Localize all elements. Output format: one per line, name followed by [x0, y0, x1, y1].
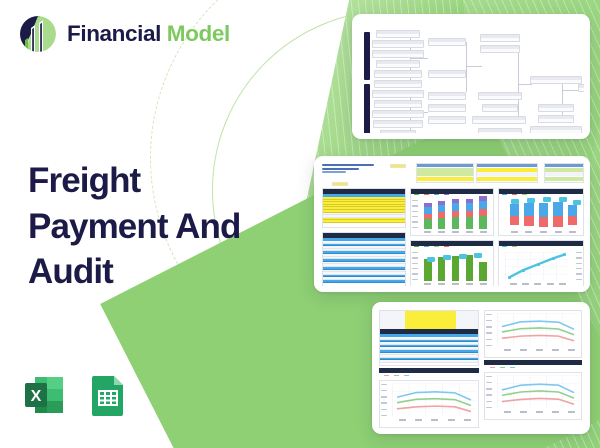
x-axis-labels [507, 231, 580, 233]
data-label-bubble [511, 199, 519, 204]
gross-margin-line-paths [497, 313, 579, 347]
data-point [537, 263, 540, 266]
legend-item [510, 367, 515, 368]
gross-margin-chart-panel[interactable] [484, 310, 582, 358]
bar-2026 [568, 205, 577, 225]
flow-node[interactable] [372, 50, 424, 58]
summary-panel[interactable] [544, 163, 584, 183]
legend-item [394, 375, 399, 376]
flow-node[interactable] [530, 76, 582, 84]
cash-impacts-table[interactable] [322, 188, 406, 228]
legend-item [434, 194, 439, 195]
flow-node[interactable] [374, 100, 422, 108]
payback-line-path [505, 252, 569, 281]
google-sheets-icon[interactable] [85, 372, 131, 418]
brand-name-part1: Financial [67, 21, 161, 46]
y-axis-labels [381, 384, 387, 416]
data-label-bubble [573, 200, 581, 205]
data-label-bubble [527, 198, 535, 203]
bar-2025 [466, 199, 474, 229]
flow-node[interactable] [472, 116, 526, 124]
flow-node[interactable] [478, 128, 522, 133]
legend-item [384, 375, 389, 376]
flow-node[interactable] [376, 60, 420, 68]
financial-model-circle-chart-logo-icon [18, 14, 58, 54]
flow-node[interactable] [428, 92, 466, 100]
page-title-line3: Audit [28, 249, 298, 295]
legend-item [444, 246, 449, 247]
flow-node[interactable] [538, 115, 574, 123]
y-axis-labels [412, 200, 418, 228]
flow-node[interactable] [428, 116, 466, 124]
data-label-bubble [559, 197, 567, 202]
y-axis-labels [412, 252, 418, 280]
flow-connector [518, 84, 532, 85]
chart-legend [502, 194, 527, 195]
chart-legend [502, 246, 517, 247]
bar-2024 [452, 256, 460, 281]
bar-2024 [452, 199, 460, 229]
payback-line-chart [505, 252, 569, 281]
balance-sheet-rail [364, 84, 370, 133]
legend-item [500, 367, 505, 368]
financial-trends-preview-card[interactable] [372, 302, 590, 434]
flow-node[interactable] [578, 84, 584, 92]
chart-legend [414, 246, 449, 247]
flow-connector [410, 58, 428, 59]
chart-legend [384, 375, 409, 376]
ebitda-line-paths-right [497, 375, 579, 409]
flow-node[interactable] [374, 70, 422, 78]
x-axis-labels [499, 349, 579, 351]
bar-2023 [438, 201, 446, 229]
summary-panel[interactable] [416, 163, 474, 183]
legend-item [434, 246, 439, 247]
data-label-bubble [427, 257, 435, 262]
flowchart-canvas [358, 20, 584, 133]
bar-2022 [424, 203, 432, 229]
data-point [522, 269, 525, 272]
legend-item [512, 194, 517, 195]
flow-connector [562, 90, 578, 91]
legend-item [512, 246, 517, 247]
data-label-bubble [459, 254, 467, 259]
y-axis-labels [486, 314, 492, 346]
y-axis-labels [576, 252, 582, 280]
legend-item [502, 194, 507, 195]
data-point [508, 276, 511, 279]
trends-canvas [378, 308, 584, 428]
flow-node[interactable] [376, 30, 420, 38]
financial-dashboard-preview-card[interactable] [314, 156, 590, 292]
bar-2026 [479, 196, 487, 229]
x-axis-labels [499, 411, 579, 413]
data-point [552, 257, 555, 260]
dashboard-heading-block [322, 164, 382, 180]
cost-structure-table[interactable] [322, 232, 406, 286]
stacked-bars [421, 200, 490, 229]
microsoft-excel-icon[interactable]: X [21, 372, 67, 418]
trends-data-table[interactable] [379, 310, 479, 366]
bar-2026 [479, 262, 487, 281]
flow-node[interactable] [428, 104, 466, 112]
trends-dashboard [378, 308, 584, 428]
data-label-bubble [474, 253, 482, 258]
flow-node[interactable] [480, 34, 520, 42]
flow-node[interactable] [530, 126, 582, 133]
flow-node[interactable] [380, 130, 416, 133]
flowchart [358, 20, 584, 133]
flow-node[interactable] [478, 92, 522, 100]
flow-connector [562, 80, 563, 118]
flow-node[interactable] [428, 70, 466, 78]
flow-node[interactable] [482, 104, 518, 112]
cash-flow-chart-panel[interactable] [410, 240, 494, 286]
chart-legend [490, 367, 515, 368]
flow-node[interactable] [372, 110, 424, 118]
profitability-chart-panel[interactable] [498, 188, 584, 236]
legend-item [424, 194, 429, 195]
gross-margin-line-chart [497, 313, 579, 347]
flow-connector [466, 66, 482, 67]
brand-logo: Financial Model [18, 14, 230, 54]
x-axis-labels [394, 419, 476, 421]
dashboard-control-cell[interactable] [390, 164, 406, 168]
ebitda-chart-panel-left[interactable] [379, 380, 479, 428]
poster-canvas: Financial Model Freight Payment And Audi… [0, 0, 600, 448]
legend-item [444, 194, 449, 195]
dashboard-canvas [320, 162, 584, 286]
flow-node[interactable] [372, 90, 424, 98]
legend-title-bar [379, 368, 479, 373]
chart-legend [414, 194, 449, 195]
x-axis-labels [507, 283, 569, 285]
legend-item [490, 367, 495, 368]
flow-connector [466, 42, 467, 92]
page-title: Freight Payment And Audit [28, 158, 298, 295]
income-statement-rail [364, 32, 370, 80]
y-axis-labels [486, 376, 492, 408]
page-title-line2: Payment And [28, 204, 298, 250]
flow-node[interactable] [373, 120, 423, 128]
dupont-flowchart-preview-card[interactable] [352, 14, 590, 139]
legend-title-bar [484, 360, 582, 365]
ebitda-line-chart-right [497, 375, 579, 409]
flow-node[interactable] [374, 80, 422, 88]
investment-payback-chart-panel[interactable] [498, 240, 584, 286]
flow-node[interactable] [428, 38, 466, 46]
brand-wordmark: Financial Model [67, 21, 230, 47]
dashboard [320, 162, 584, 286]
flow-node[interactable] [372, 40, 424, 48]
legend-item [414, 194, 419, 195]
revenue-streams-chart-panel[interactable] [410, 188, 494, 236]
brand-name-part2: Model [167, 21, 230, 46]
bar-2022 [424, 259, 432, 281]
bar-2025 [553, 202, 562, 227]
bar-2022 [510, 204, 519, 225]
data-label-bubble [443, 255, 451, 260]
x-axis-labels [421, 231, 490, 233]
profitability-bars [507, 200, 580, 229]
bar-2023 [438, 257, 446, 281]
ebitda-chart-panel-right[interactable] [484, 372, 582, 420]
flow-node[interactable] [538, 104, 574, 112]
svg-text:X: X [31, 388, 42, 405]
bar-2023 [524, 203, 533, 226]
legend-item [414, 246, 419, 247]
legend-item [502, 246, 507, 247]
data-label-bubble [543, 197, 551, 202]
legend-item [522, 194, 527, 195]
x-axis-labels [421, 283, 490, 285]
legend-item [424, 246, 429, 247]
legend-item [404, 375, 409, 376]
dashboard-control-cell[interactable] [332, 182, 348, 186]
file-format-icons: X [21, 372, 131, 418]
ebitda-line-chart-left [392, 383, 476, 417]
bar-2024 [539, 203, 548, 227]
bar-2025 [466, 255, 474, 281]
flow-node[interactable] [480, 45, 520, 53]
ebitda-line-paths-left [392, 383, 476, 417]
flow-connector [518, 52, 519, 118]
page-title-line1: Freight [28, 158, 298, 204]
